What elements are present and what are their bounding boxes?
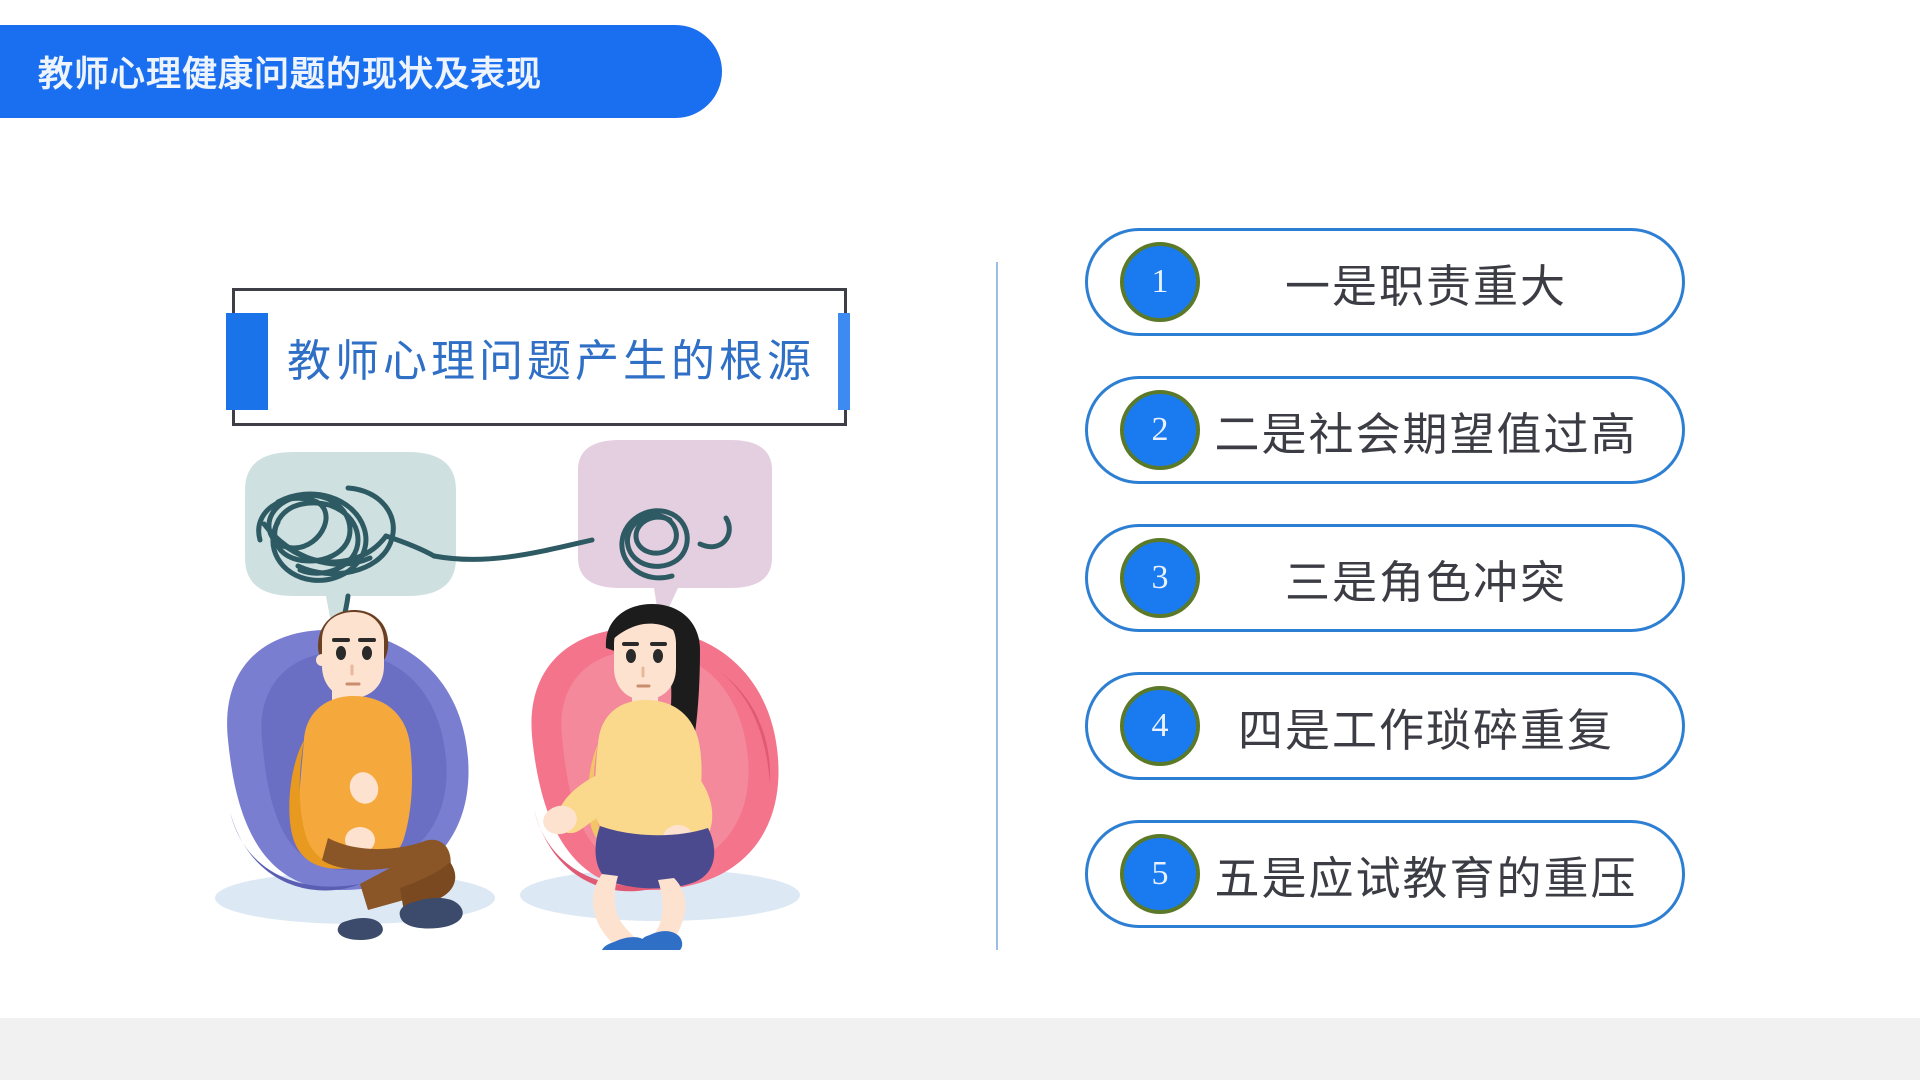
list-item[interactable]: 5 五是应试教育的重压	[1085, 820, 1685, 928]
list-item[interactable]: 3 三是角色冲突	[1085, 524, 1685, 632]
number-badge-label: 2	[1152, 413, 1169, 447]
number-badge: 4	[1120, 686, 1200, 766]
list-item[interactable]: 1 一是职责重大	[1085, 228, 1685, 336]
subtitle-accent-bar-right	[838, 313, 850, 410]
bottom-band	[0, 1018, 1920, 1080]
subtitle-accent-bar-left	[226, 313, 268, 410]
list-item-label: 二是社会期望值过高	[1200, 398, 1682, 463]
subtitle-frame: 教师心理问题产生的根源	[232, 288, 847, 426]
title-banner: 教师心理健康问题的现状及表现	[0, 25, 722, 118]
list-item[interactable]: 4 四是工作琐碎重复	[1085, 672, 1685, 780]
vertical-divider	[996, 262, 998, 950]
illustration-two-people-talking	[200, 440, 820, 950]
list-item-label: 三是角色冲突	[1200, 546, 1682, 611]
number-badge: 2	[1120, 390, 1200, 470]
list-item-label: 四是工作琐碎重复	[1200, 694, 1682, 759]
number-badge: 3	[1120, 538, 1200, 618]
number-badge-label: 4	[1152, 709, 1169, 743]
list-item[interactable]: 2 二是社会期望值过高	[1085, 376, 1685, 484]
list-item-label: 五是应试教育的重压	[1200, 842, 1682, 907]
list-item-label: 一是职责重大	[1200, 250, 1682, 315]
number-badge: 5	[1120, 834, 1200, 914]
number-badge-label: 1	[1152, 265, 1169, 299]
number-badge: 1	[1120, 242, 1200, 322]
number-badge-label: 3	[1152, 561, 1169, 595]
subtitle-text: 教师心理问题产生的根源	[287, 325, 815, 389]
points-list: 1 一是职责重大 2 二是社会期望值过高 3 三是角色冲突 4 四是工作琐碎重复…	[1085, 228, 1685, 958]
slide-canvas: 教师心理健康问题的现状及表现 教师心理问题产生的根源	[0, 0, 1920, 1080]
bubble-connector-line	[434, 540, 592, 559]
page-title: 教师心理健康问题的现状及表现	[38, 46, 542, 97]
number-badge-label: 5	[1152, 857, 1169, 891]
